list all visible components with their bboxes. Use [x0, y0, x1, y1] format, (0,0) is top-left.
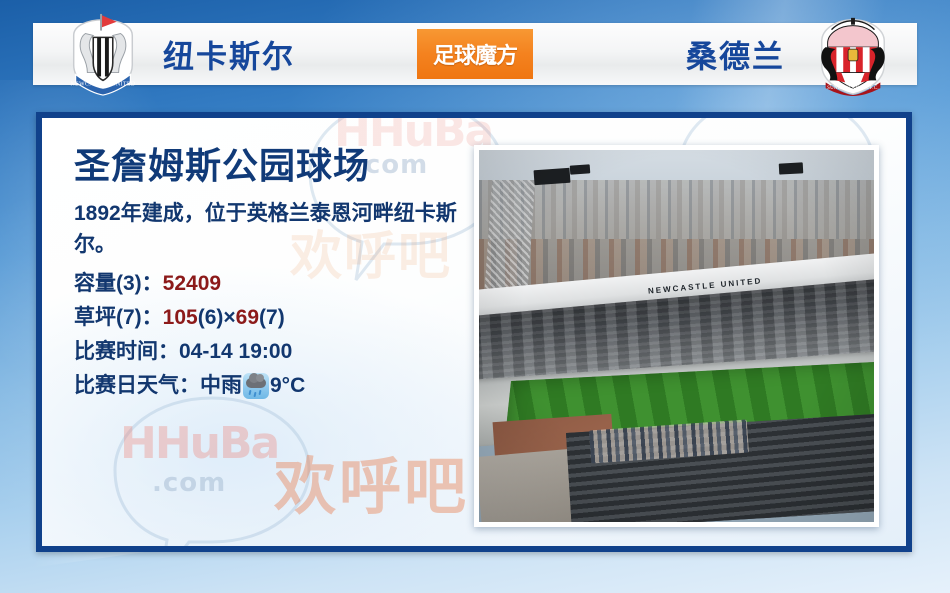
stadium-photo-frame[interactable]: NEWCASTLE UNITED [474, 145, 879, 527]
pitch-length-value: 105 [163, 306, 198, 329]
photo-vignette [479, 150, 874, 522]
svg-text:NEWCASTLE UNITED: NEWCASTLE UNITED [71, 81, 136, 87]
newcastle-united-crest: NEWCASTLE UNITED [65, 12, 141, 96]
svg-text:SUNDERLAND A.F.C.: SUNDERLAND A.F.C. [827, 86, 879, 91]
match-header-bar: NEWCASTLE UNITED 纽卡斯尔 足球魔方 桑德兰 [33, 23, 917, 85]
watermark-text-2: HHuBa [120, 418, 278, 469]
pitch-dimension-separator: × [223, 306, 235, 329]
temperature-value: 9°C [270, 369, 305, 403]
stadium-info-panel: HHuBa .com .com HHuBa .com 欢呼吧 欢呼吧 圣詹姆斯公… [36, 112, 912, 552]
capacity-row: 容量(3)：52409 [74, 267, 494, 301]
moderate-rain-icon [243, 373, 269, 399]
stadium-description: 1892年建成，位于英格兰泰恩河畔纽卡斯尔。 [74, 198, 494, 261]
away-team-name: 桑德兰 [686, 32, 785, 77]
weather-row: 比赛日天气：中雨9°C [74, 369, 305, 403]
stadium-info-column: 圣詹姆斯公园球场 1892年建成，位于英格兰泰恩河畔纽卡斯尔。 容量(3)：52… [74, 146, 494, 403]
sunderland-afc-crest: SUNDERLAND A.F.C. [815, 12, 891, 96]
weather-value: 中雨 [200, 369, 242, 403]
match-time-row: 比赛时间：04-14 19:00 [74, 335, 494, 369]
watermark-brand-cn-1: 欢呼吧 [274, 436, 469, 526]
capacity-value: 52409 [163, 272, 221, 295]
stadium-photo: NEWCASTLE UNITED [479, 150, 874, 522]
match-time-label: 比赛时间： [74, 340, 179, 363]
site-logo-text: 足球魔方 [433, 38, 517, 70]
site-logo[interactable]: 足球魔方 [417, 29, 533, 79]
pitch-row: 草坪(7)：105(6)×69(7) [74, 301, 494, 335]
app-screen: NEWCASTLE UNITED 纽卡斯尔 足球魔方 桑德兰 [0, 0, 950, 593]
stadium-title: 圣詹姆斯公园球场 [74, 146, 494, 186]
watermark-domain-3: .com [152, 468, 226, 498]
home-team-name: 纽卡斯尔 [163, 32, 295, 77]
match-time-value: 04-14 19:00 [179, 340, 292, 363]
pitch-width-value: 69 [236, 306, 259, 329]
pitch-label: 草坪(7)： [74, 306, 163, 329]
watermark-bubble-3 [97, 388, 327, 552]
weather-label: 比赛日天气： [74, 369, 200, 403]
pitch-length-rank: (6) [198, 306, 224, 329]
capacity-label: 容量(3)： [74, 272, 163, 295]
pitch-width-rank: (7) [259, 306, 285, 329]
